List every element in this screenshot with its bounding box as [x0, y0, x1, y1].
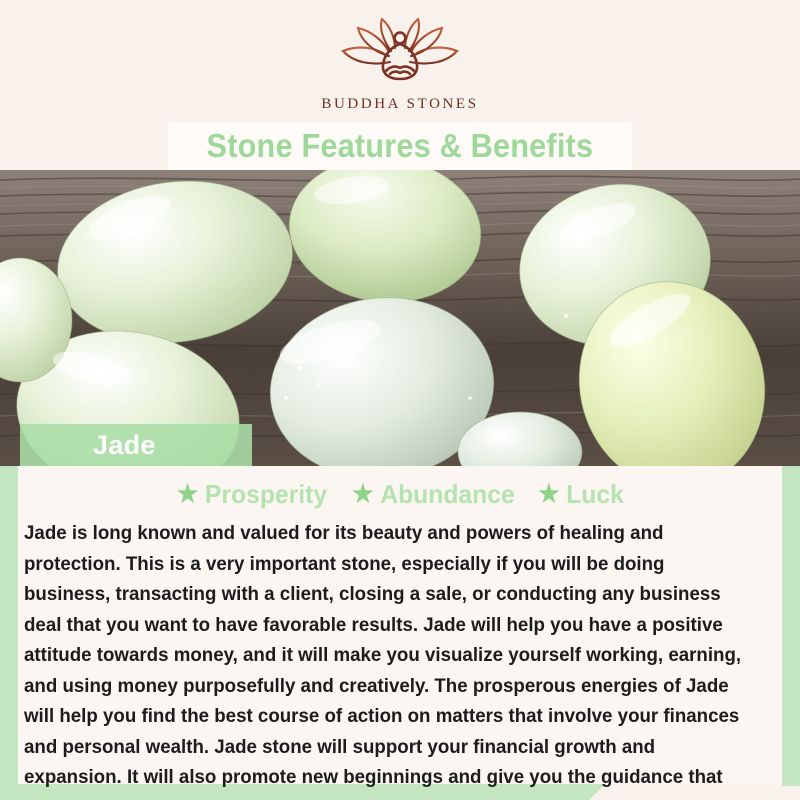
- brand-logo: BUDDHA STONES: [0, 18, 800, 113]
- benefit-item-prosperity: ★ Prosperity: [177, 479, 327, 510]
- content-panel: ★ Prosperity ★ Abundance ★ Luck Jade is …: [18, 466, 782, 784]
- decorative-band-right-lower: [782, 466, 800, 786]
- stone-name-label: Jade: [93, 430, 156, 461]
- infographic-page: BUDDHA STONES: [0, 0, 800, 800]
- benefits-row: ★ Prosperity ★ Abundance ★ Luck: [18, 472, 782, 516]
- star-icon: ★: [177, 482, 198, 507]
- lotus-meditation-icon: [327, 18, 473, 90]
- title-banner: Stone Features & Benefits: [168, 122, 632, 170]
- star-icon: ★: [539, 482, 560, 507]
- benefit-label: Prosperity: [205, 479, 327, 510]
- benefit-item-abundance: ★ Abundance: [353, 479, 515, 510]
- jade-stones-photo: [0, 170, 800, 466]
- benefit-label: Luck: [567, 479, 625, 510]
- benefit-item-luck: ★ Luck: [539, 479, 625, 510]
- benefit-label: Abundance: [381, 479, 515, 510]
- star-icon: ★: [353, 482, 374, 507]
- stone-name-band: Jade: [20, 424, 252, 466]
- page-title: Stone Features & Benefits: [207, 127, 594, 165]
- stone-description: Jade is long known and valued for its be…: [24, 518, 748, 800]
- brand-wordmark: BUDDHA STONES: [321, 96, 478, 113]
